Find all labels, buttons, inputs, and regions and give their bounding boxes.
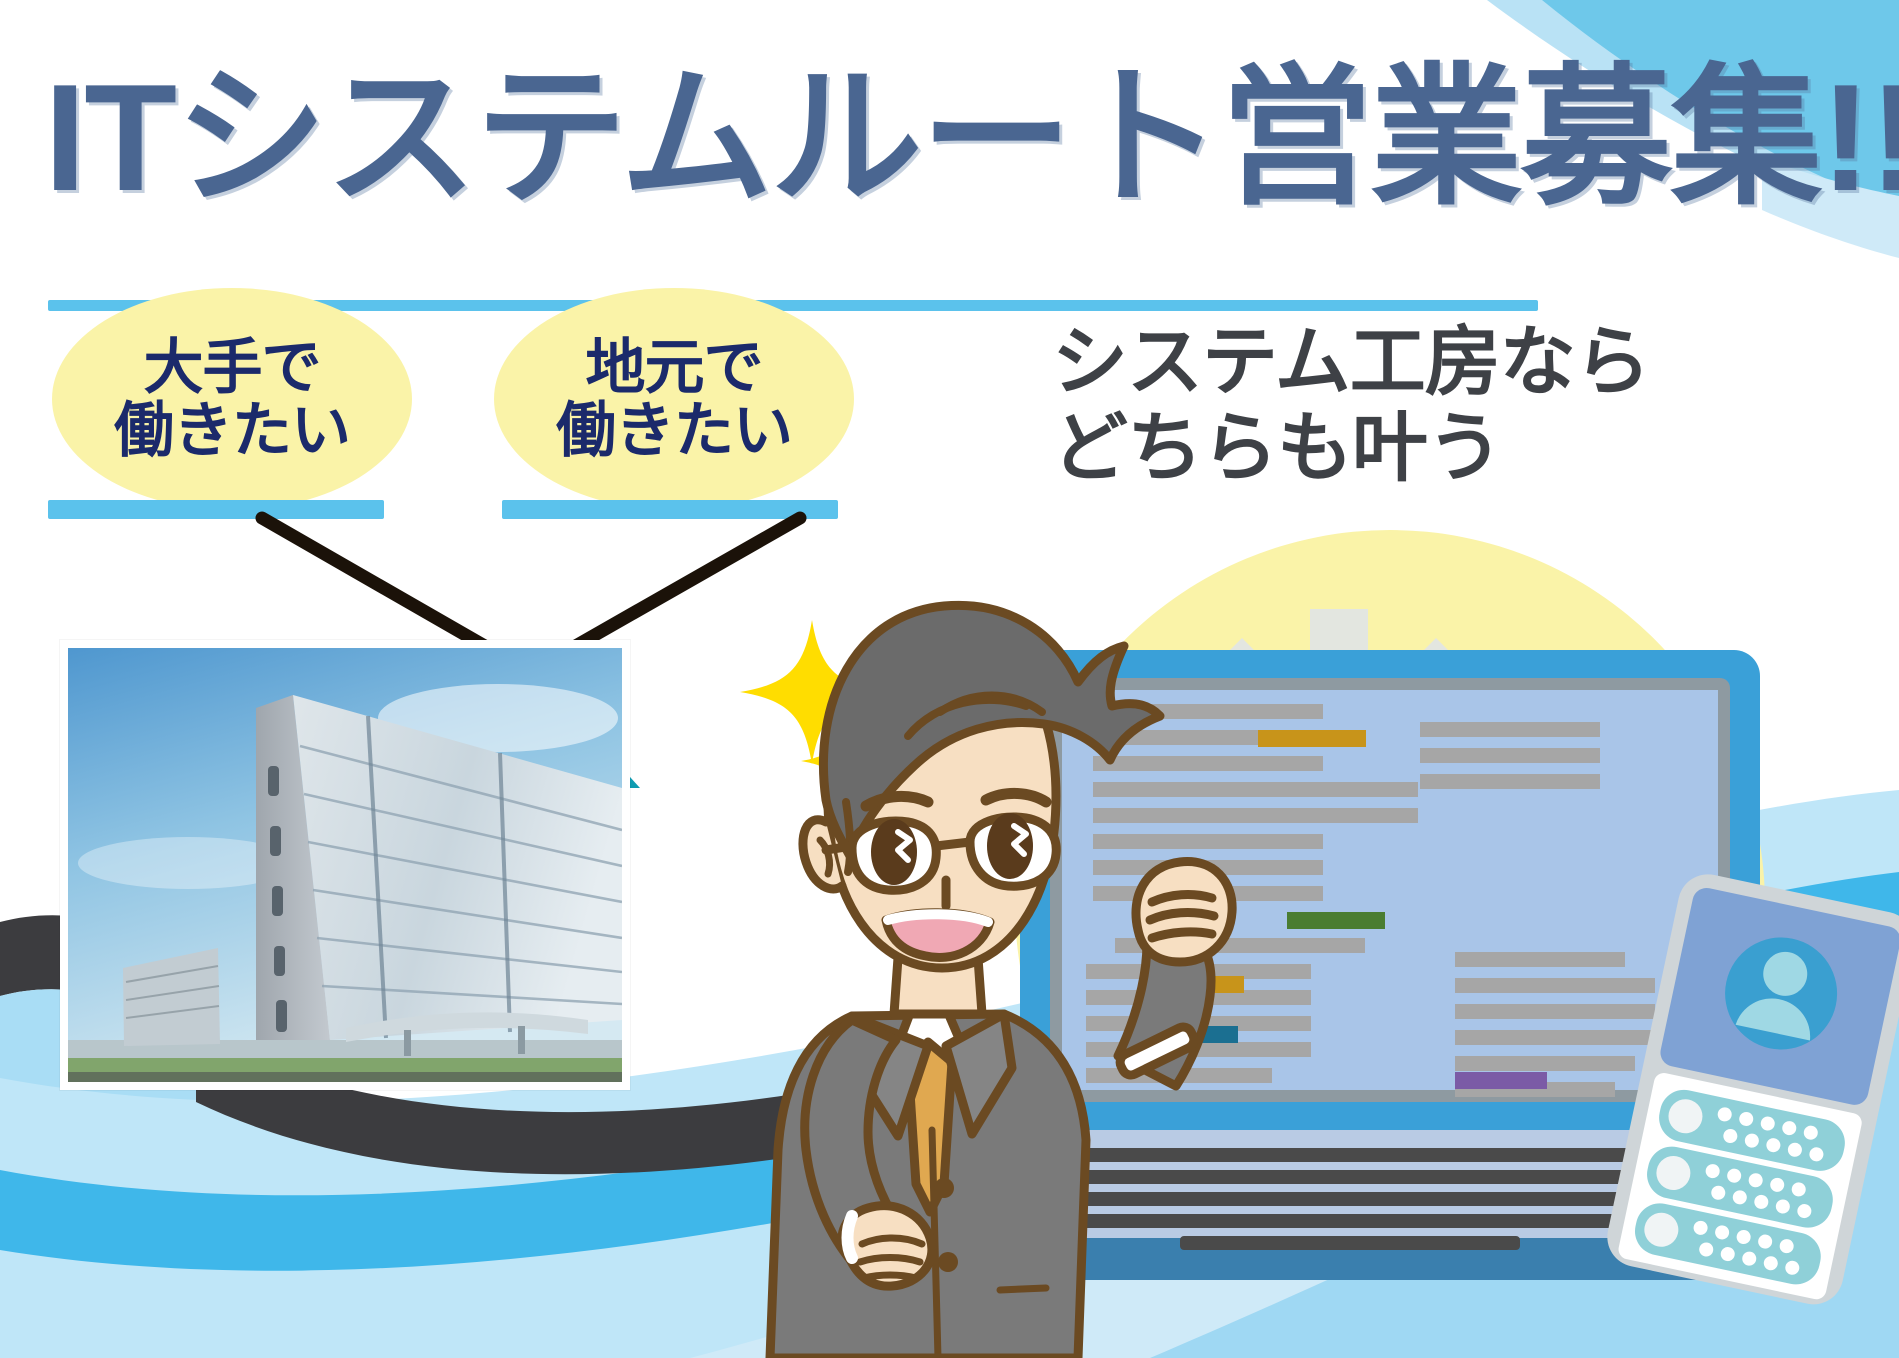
tagline-line1: システム工房なら xyxy=(1052,320,1852,406)
character-ear-inner xyxy=(820,840,830,874)
bubble1-line2: 働きたい xyxy=(114,399,350,462)
character-knuckles xyxy=(1152,932,1212,938)
character-pocket xyxy=(1000,1288,1046,1290)
character-watch xyxy=(848,1216,853,1258)
laptop-base-edge xyxy=(968,1238,1824,1280)
gear-icon xyxy=(1557,815,1777,1035)
laptop-base xyxy=(964,1130,1825,1264)
server-rack-icon xyxy=(1602,869,1899,1310)
code-lines-left xyxy=(1086,704,1418,1083)
office-building-photo xyxy=(60,640,630,1090)
photo-canopy-post xyxy=(518,1026,525,1054)
character-hip-arm xyxy=(805,1020,900,1262)
character-suit-body xyxy=(770,1014,1086,1358)
character-hair xyxy=(823,605,1160,856)
laptop-screen xyxy=(1062,690,1718,1090)
bubble1-underline xyxy=(48,500,384,519)
character-fingers xyxy=(862,1238,922,1244)
recruitment-poster: ITシステムルート営業募集!! 大手で 働きたい 地元で 働きたい システム工房… xyxy=(0,0,1899,1358)
code-highlight-teal xyxy=(1152,1026,1238,1043)
character-knuckles xyxy=(1150,913,1214,920)
character-lapel-right xyxy=(946,1014,1012,1134)
sparkle-icon xyxy=(801,716,891,806)
bubble1-line1: 大手で xyxy=(144,336,321,399)
character-lapel-left xyxy=(852,1016,928,1136)
character-hand-on-hip xyxy=(842,1206,932,1286)
character-raised-arm xyxy=(1118,927,1211,1086)
character-eyebrow-right xyxy=(986,793,1046,802)
bubble2-line2: 働きたい xyxy=(556,399,792,462)
character-eye-right xyxy=(987,813,1033,879)
code-lines-right xyxy=(1420,722,1655,1097)
character-necktie xyxy=(908,1042,952,1212)
photo-canopy-post xyxy=(404,1030,411,1056)
bubble-major-company: 大手で 働きたい xyxy=(52,288,412,510)
character-wristband xyxy=(1117,1024,1197,1078)
character-hair-strand xyxy=(908,700,1026,736)
character-glasses-frame xyxy=(852,821,936,890)
character-head xyxy=(828,626,1056,968)
character-mouth xyxy=(886,913,990,958)
page-title: ITシステムルート営業募集!! xyxy=(44,62,1544,214)
character-eyebrow-left xyxy=(866,796,928,806)
bubble-local-area: 地元で 働きたい xyxy=(494,288,854,510)
code-highlight-green xyxy=(1287,912,1385,929)
character-jacket-seam xyxy=(932,1130,938,1358)
character-ear xyxy=(803,820,842,889)
character-hair-strand xyxy=(940,696,1042,713)
character-glasses-temple xyxy=(826,846,852,850)
bubble2-line1: 地元で xyxy=(586,336,763,399)
user-avatar-icon xyxy=(1715,927,1848,1060)
yellow-sun-circle xyxy=(1015,530,1765,1280)
character-button xyxy=(938,1252,958,1272)
wave-bottom-right-blue xyxy=(1150,1016,1899,1358)
gear-hole xyxy=(1626,851,1708,933)
character-sideburn xyxy=(846,802,850,872)
laptop-bezel xyxy=(1050,678,1730,1102)
bubble2-underline xyxy=(502,500,838,519)
tagline-line2: どちらも叶う xyxy=(1052,406,1852,492)
character-knuckles xyxy=(1152,895,1212,902)
character-fingers xyxy=(860,1258,920,1263)
keyboard-keys xyxy=(1036,1148,1676,1250)
character-neck xyxy=(894,958,982,1014)
character-teeth xyxy=(888,914,988,922)
photo-foreground-road xyxy=(68,1072,622,1082)
code-highlight-orange xyxy=(1258,730,1366,747)
server-rack-rows xyxy=(1631,1085,1850,1288)
character-fingers xyxy=(864,1275,916,1278)
tagline: システム工房なら どちらも叶う xyxy=(1052,320,1852,492)
character-shirt xyxy=(896,1008,964,1110)
green-band xyxy=(1012,806,1600,1086)
character-eye-glint xyxy=(898,832,910,860)
character-eye-left xyxy=(871,819,917,885)
laptop-lid xyxy=(1020,650,1760,1130)
character-eye-glint xyxy=(1014,826,1026,854)
character-button xyxy=(934,1178,954,1198)
character-glasses-bridge xyxy=(936,842,970,846)
wave-lower-right-pale xyxy=(690,960,1899,1358)
code-highlight-purple xyxy=(1455,1072,1547,1089)
character-glasses-frame xyxy=(970,817,1056,886)
sparkle-icon xyxy=(740,620,884,764)
gear-hole xyxy=(1275,662,1403,790)
gear-icon xyxy=(1172,609,1506,943)
code-highlight-orange xyxy=(1152,976,1244,993)
character-fist xyxy=(1136,862,1232,962)
